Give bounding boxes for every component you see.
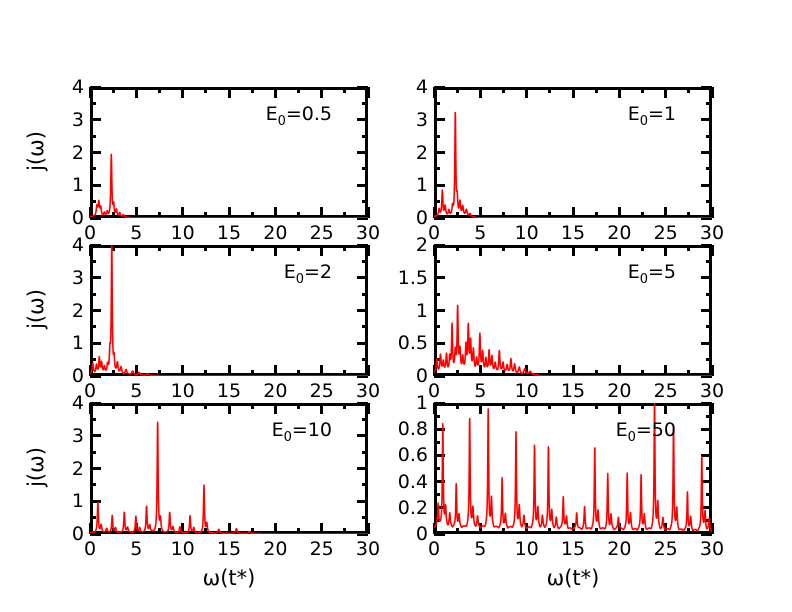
x-tick-label: 30 <box>356 538 380 560</box>
x-tick-label: 15 <box>561 538 585 560</box>
y-tick-label: 0 <box>38 365 84 387</box>
x-tick-label: 0 <box>428 380 440 402</box>
annotation-symbol: E <box>266 103 278 125</box>
x-tick-label: 5 <box>474 380 486 402</box>
annotation-subscript: 0 <box>640 114 648 129</box>
y-tick-label: 1 <box>382 300 428 322</box>
annotation-subscript: 0 <box>628 430 636 445</box>
y-tick-label: 1.5 <box>382 267 428 289</box>
x-tick-label: 5 <box>130 222 142 244</box>
x-tick-label: 10 <box>171 222 195 244</box>
annotation-subscript: 0 <box>278 114 286 129</box>
y-tick-label: 1 <box>382 392 428 414</box>
x-tick-label: 20 <box>607 538 631 560</box>
y-tick-label: 0.8 <box>382 418 428 440</box>
x-tick-label: 5 <box>474 222 486 244</box>
panel-annotation-2: E0=1 <box>628 103 676 129</box>
x-tick-label: 0 <box>84 538 96 560</box>
annotation-subscript: 0 <box>640 272 648 287</box>
x-tick-label: 25 <box>310 380 334 402</box>
x-tick-label: 15 <box>217 222 241 244</box>
x-tick-label: 25 <box>654 222 678 244</box>
annotation-symbol: E <box>272 419 284 441</box>
annotation-value: =0.5 <box>286 103 332 125</box>
plot-panel-2: E0=1 <box>434 87 712 218</box>
panel-annotation-1: E0=0.5 <box>266 103 332 129</box>
x-tick-label: 15 <box>561 222 585 244</box>
x-tick-label: 25 <box>654 538 678 560</box>
x-tick-label: 30 <box>356 380 380 402</box>
x-tick-label: 30 <box>700 222 724 244</box>
x-tick-label: 25 <box>654 380 678 402</box>
x-tick-label: 0 <box>84 380 96 402</box>
y-axis-title: j(ω) <box>24 259 48 359</box>
x-tick-label: 10 <box>171 538 195 560</box>
x-tick-label: 20 <box>263 222 287 244</box>
y-tick-label: 4 <box>38 76 84 98</box>
figure-canvas: E0=0.505101520253001234E0=10510152025300… <box>0 0 792 612</box>
x-tick-label: 10 <box>515 222 539 244</box>
panel-annotation-4: E0=5 <box>628 261 676 287</box>
y-tick-label: 4 <box>38 392 84 414</box>
y-tick-label: 0 <box>382 207 428 229</box>
x-tick-label: 15 <box>217 380 241 402</box>
x-tick-label: 25 <box>310 222 334 244</box>
x-tick-label: 5 <box>130 380 142 402</box>
panel-annotation-6: E0=50 <box>616 419 676 445</box>
y-tick-label: 3 <box>382 109 428 131</box>
x-tick-label: 0 <box>428 538 440 560</box>
x-tick-label: 5 <box>130 538 142 560</box>
x-tick-label: 30 <box>700 380 724 402</box>
y-axis-title: j(ω) <box>24 101 48 201</box>
x-tick-label: 15 <box>561 380 585 402</box>
x-tick-label: 0 <box>428 222 440 244</box>
y-tick-label: 0 <box>382 523 428 545</box>
annotation-symbol: E <box>616 419 628 441</box>
y-tick-label: 0.5 <box>382 332 428 354</box>
y-tick-label: 0.2 <box>382 497 428 519</box>
plot-panel-3: E0=2 <box>90 245 368 376</box>
annotation-symbol: E <box>628 261 640 283</box>
y-tick-label: 2 <box>382 234 428 256</box>
annotation-value: =5 <box>648 261 676 283</box>
x-tick-label: 5 <box>474 538 486 560</box>
x-tick-label: 30 <box>700 538 724 560</box>
x-axis-title: ω(t*) <box>203 566 256 590</box>
annotation-value: =2 <box>304 261 332 283</box>
annotation-value: =1 <box>648 103 676 125</box>
x-tick-label: 25 <box>310 538 334 560</box>
x-tick-label: 10 <box>515 538 539 560</box>
annotation-value: =50 <box>636 419 676 441</box>
x-tick-label: 10 <box>515 380 539 402</box>
panel-annotation-3: E0=2 <box>284 261 332 287</box>
y-tick-label: 2 <box>382 142 428 164</box>
plot-panel-4: E0=5 <box>434 245 712 376</box>
x-tick-label: 30 <box>356 222 380 244</box>
annotation-value: =10 <box>292 419 332 441</box>
x-axis-title: ω(t*) <box>547 566 600 590</box>
annotation-symbol: E <box>284 261 296 283</box>
x-tick-label: 15 <box>217 538 241 560</box>
y-tick-label: 0 <box>38 207 84 229</box>
y-axis-title: j(ω) <box>24 417 48 517</box>
y-tick-label: 4 <box>38 234 84 256</box>
y-tick-label: 0 <box>38 523 84 545</box>
plot-panel-5: E0=10 <box>90 403 368 534</box>
y-tick-label: 4 <box>382 76 428 98</box>
x-tick-label: 20 <box>263 538 287 560</box>
y-tick-label: 0.6 <box>382 444 428 466</box>
annotation-subscript: 0 <box>296 272 304 287</box>
panel-annotation-5: E0=10 <box>272 419 332 445</box>
annotation-symbol: E <box>628 103 640 125</box>
x-tick-label: 20 <box>607 380 631 402</box>
y-tick-label: 1 <box>382 174 428 196</box>
plot-panel-6: E0=50 <box>434 403 712 534</box>
x-tick-label: 20 <box>263 380 287 402</box>
y-tick-label: 0 <box>382 365 428 387</box>
x-tick-label: 20 <box>607 222 631 244</box>
plot-panel-1: E0=0.5 <box>90 87 368 218</box>
y-tick-label: 0.4 <box>382 471 428 493</box>
x-tick-label: 10 <box>171 380 195 402</box>
x-tick-label: 0 <box>84 222 96 244</box>
annotation-subscript: 0 <box>284 430 292 445</box>
